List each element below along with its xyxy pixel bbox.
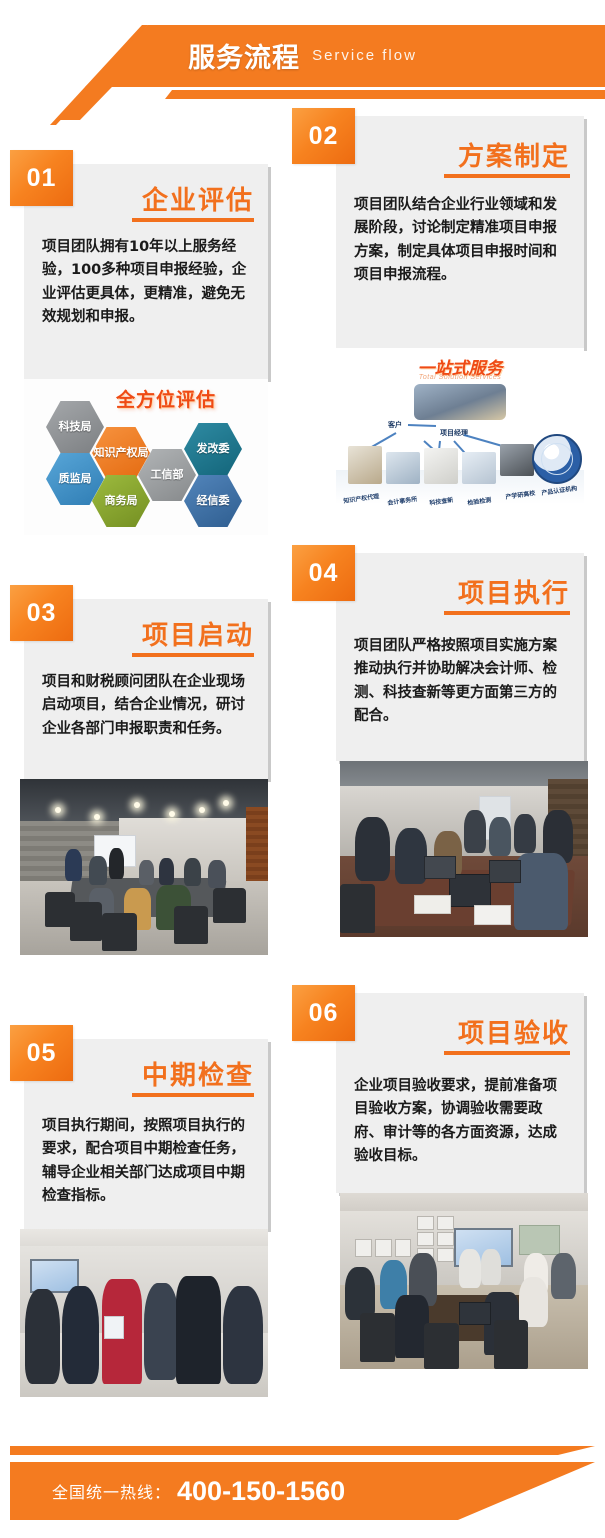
- card-03-body: 项目和财税顾问团队在企业现场启动项目，结合企业情况，研讨企业各部门申报职责和任务…: [42, 671, 254, 741]
- card-05: 05 中期检查 项目执行期间，按照项目执行的要求，配合项目中期检查任务，辅导企业…: [10, 1025, 268, 1410]
- one-stop-subtitle: Total Solution Services: [336, 374, 584, 381]
- one-stop-node-1: [348, 446, 382, 484]
- card-03-title: 项目启动: [142, 615, 254, 652]
- card-01-title-rule: [132, 218, 254, 222]
- hex-node-fagai: 发改委: [184, 423, 242, 475]
- card-06-title: 项目验收: [458, 1013, 570, 1050]
- one-stop-label-customer: 客户: [388, 420, 402, 430]
- hotline-label: 全国统一热线：: [52, 1479, 171, 1503]
- one-stop-node-3: [424, 448, 458, 484]
- card-03-title-rule: [132, 653, 254, 657]
- card-02: 02 方案制定 项目团队结合企业行业领域和发展阶段，讨论制定精准项目申报方案，制…: [292, 108, 592, 528]
- card-06-body: 企业项目验收要求，提前准备项目验收方案，协调验收需要政府、审计等的各方面资源，达…: [354, 1075, 570, 1169]
- card-04-panel: 项目执行 项目团队严格按照项目实施方案推动执行并协助解决会计师、检测、科技查新等…: [336, 553, 584, 761]
- one-stop-node-2: [386, 452, 420, 484]
- one-stop-node-5: [500, 444, 534, 476]
- cards-grid: 01 企业评估 项目团队拥有10年以上服务经验，100多种项目申报经验，企业评估…: [0, 0, 605, 1538]
- one-stop-node-4: [462, 452, 496, 484]
- card-06: 06 项目验收 企业项目验收要求，提前准备项目验收方案，协调验收需要政府、审计等…: [292, 985, 592, 1385]
- footer-accent-line: [10, 1446, 595, 1455]
- one-stop-hub-photo: [414, 384, 506, 420]
- card-02-figure: 一站式服务 Total Solution Services 客户 项目经理 知识…: [336, 348, 584, 518]
- card-02-body: 项目团队结合企业行业领域和发展阶段，讨论制定精准项目申报方案，制定具体项目申报时…: [354, 194, 570, 288]
- card-05-title-rule: [132, 1093, 254, 1097]
- card-04-photo: [340, 761, 588, 937]
- hex-node-jingxin: 经信委: [184, 475, 242, 527]
- card-05-title: 中期检查: [142, 1055, 254, 1092]
- card-02-number: 02: [292, 108, 355, 164]
- card-01: 01 企业评估 项目团队拥有10年以上服务经验，100多种项目申报经验，企业评估…: [10, 150, 268, 535]
- card-03: 03 项目启动 项目和财税顾问团队在企业现场启动项目，结合企业情况，研讨企业各部…: [10, 585, 268, 970]
- card-05-number: 05: [10, 1025, 73, 1081]
- card-01-title: 企业评估: [142, 180, 254, 217]
- card-04-title-rule: [444, 611, 570, 615]
- one-stop-caption-3: 科技查新: [429, 495, 454, 507]
- one-stop-arrow-1: [408, 424, 436, 427]
- card-02-title: 方案制定: [458, 136, 570, 173]
- card-01-figure: 全方位评估 科技局 知识产权局 质监局 工信部 商务局 发改委 经信委: [24, 379, 268, 535]
- card-05-body: 项目执行期间，按照项目执行的要求，配合项目中期检查任务，辅导企业相关部门达成项目…: [42, 1115, 254, 1209]
- card-03-photo: [20, 779, 268, 955]
- card-05-photo: [20, 1229, 268, 1397]
- hex-figure-title: 全方位评估: [116, 385, 216, 412]
- hotline-number[interactable]: 400-150-1560: [177, 1476, 345, 1507]
- card-06-title-rule: [444, 1051, 570, 1055]
- card-04: 04 项目执行 项目团队严格按照项目实施方案推动执行并协助解决会计师、检测、科技…: [292, 545, 592, 965]
- page-footer: 全国统一热线： 400-150-1560: [0, 1398, 605, 1538]
- service-flow-infographic: 服务流程 Service flow 01 企业评估 项目团队拥有10年以上服务经…: [0, 0, 605, 1538]
- card-04-number: 04: [292, 545, 355, 601]
- hex-node-keji: 科技局: [46, 401, 104, 453]
- card-06-panel: 项目验收 企业项目验收要求，提前准备项目验收方案，协调验收需要政府、审计等的各方…: [336, 993, 584, 1193]
- certification-seal-icon: [532, 434, 582, 484]
- card-01-number: 01: [10, 150, 73, 206]
- one-stop-caption-4: 检验检测: [467, 495, 492, 507]
- card-06-number: 06: [292, 985, 355, 1041]
- card-06-photo: [340, 1193, 588, 1369]
- card-04-title: 项目执行: [458, 573, 570, 610]
- card-04-body: 项目团队严格按照项目实施方案推动执行并协助解决会计师、检测、科技查新等更方面第三…: [354, 635, 570, 729]
- card-02-title-rule: [444, 174, 570, 178]
- card-03-number: 03: [10, 585, 73, 641]
- hotline: 全国统一热线： 400-150-1560: [52, 1462, 345, 1520]
- card-02-panel: 方案制定 项目团队结合企业行业领域和发展阶段，讨论制定精准项目申报方案，制定具体…: [336, 116, 584, 348]
- card-01-body: 项目团队拥有10年以上服务经验，100多种项目申报经验，企业评估更具体，更精准，…: [42, 236, 254, 330]
